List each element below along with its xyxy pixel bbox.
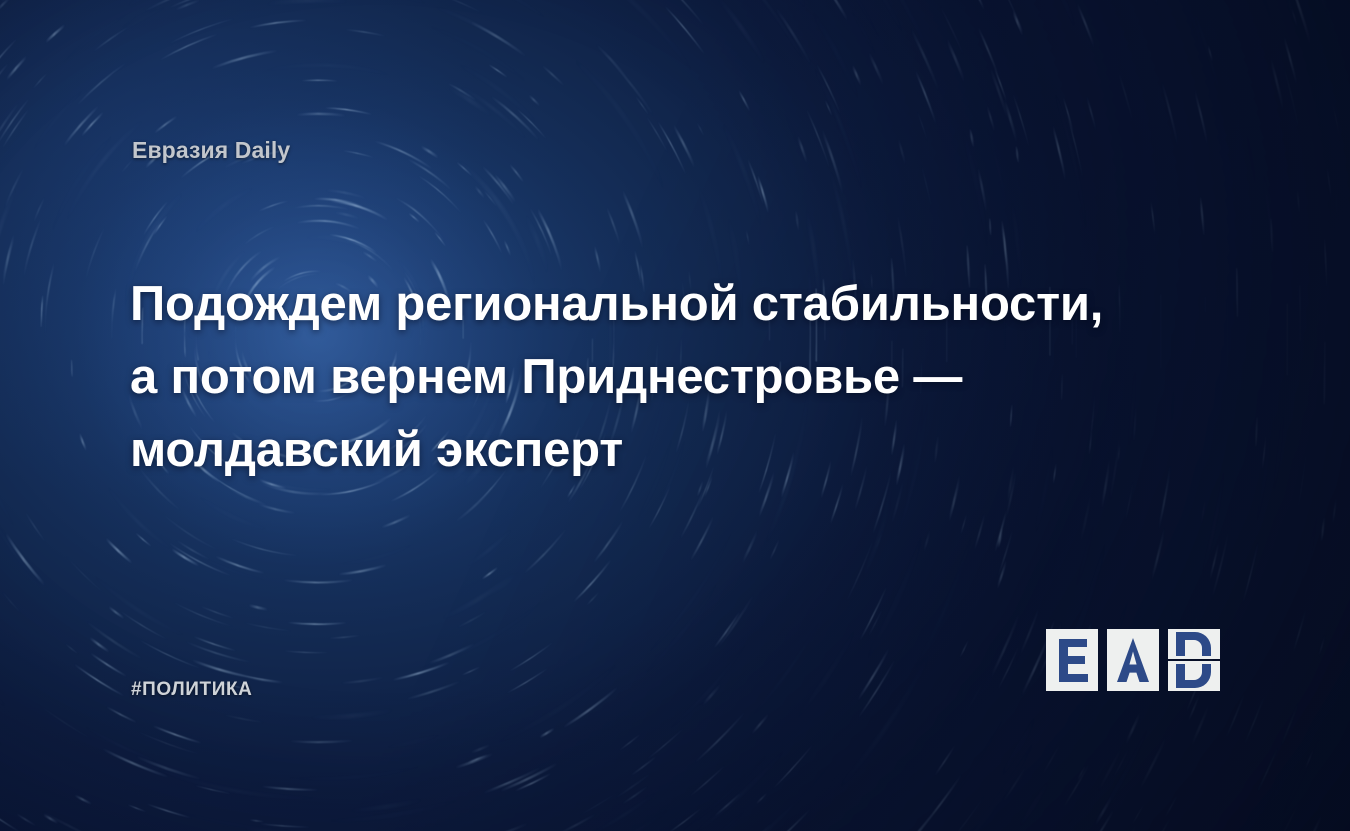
article-cover-card: Евразия Daily Подождем региональной стаб… <box>0 0 1350 831</box>
headline-line-1: Подождем региональной стабильности, <box>130 268 1240 341</box>
eadaily-logo[interactable] <box>1046 629 1220 691</box>
article-headline: Подождем региональной стабильности, а по… <box>130 268 1240 487</box>
headline-line-2: а потом вернем Приднестровье — <box>130 341 1240 414</box>
site-brand-label: Евразия Daily <box>132 137 290 164</box>
headline-line-3: молдавский эксперт <box>130 414 1240 487</box>
cover-content: Евразия Daily Подождем региональной стаб… <box>0 0 1350 831</box>
category-tag-politics[interactable]: #ПОЛИТИКА <box>131 679 253 701</box>
